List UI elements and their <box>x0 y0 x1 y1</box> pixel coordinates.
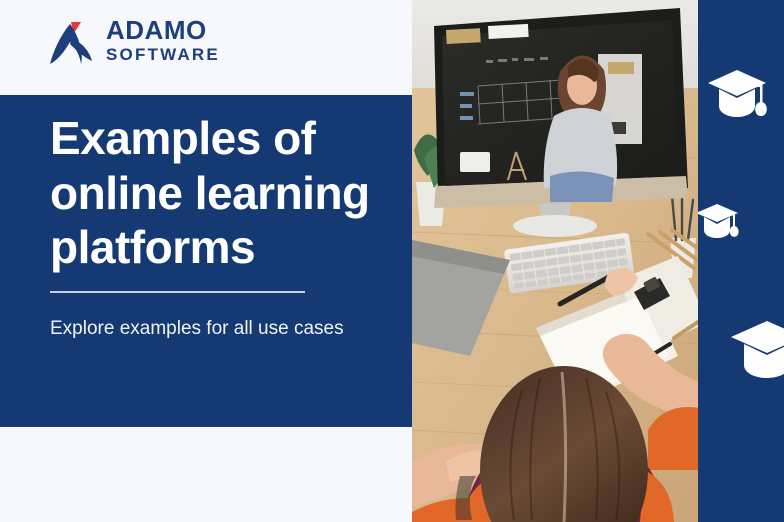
title-divider <box>50 291 305 293</box>
online-class-photo <box>412 0 700 522</box>
graduation-cap-icon <box>698 202 740 242</box>
brand-name-line1: ADAMO <box>106 17 220 43</box>
online-learning-banner: ADAMO SOFTWARE Examples of online learni… <box>0 0 784 522</box>
graduation-cap-icon <box>706 68 768 122</box>
brand-logo[interactable]: ADAMO SOFTWARE <box>48 14 220 66</box>
decorative-side-strip <box>698 0 784 522</box>
graduation-cap-icon <box>728 318 784 384</box>
online-class-photo-illustration <box>412 0 700 522</box>
brand-name-line2: SOFTWARE <box>106 46 220 63</box>
page-subtitle: Explore examples for all use cases <box>50 313 370 344</box>
adamo-a-mark-icon <box>48 14 96 66</box>
hero-panel: Examples of online learning platforms Ex… <box>0 95 412 427</box>
page-title: Examples of online learning platforms <box>50 111 402 275</box>
